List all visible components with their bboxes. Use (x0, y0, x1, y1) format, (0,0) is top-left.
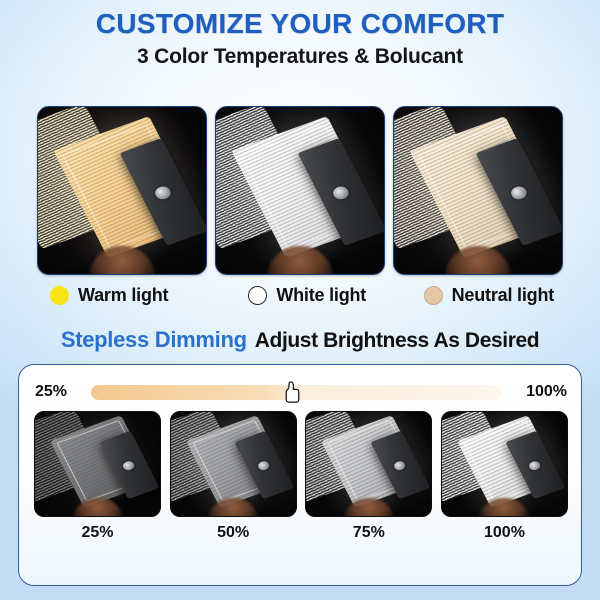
warm-light-panel (37, 106, 207, 275)
header: CUSTOMIZE YOUR COMFORT 3 Color Temperatu… (0, 0, 600, 69)
legend-item-neutral-light: Neutral light (388, 285, 563, 306)
color-temperature-legend: Warm light White light Neutral light (37, 285, 563, 306)
brightness-image-75 (305, 411, 432, 517)
power-button-icon (509, 185, 529, 202)
dimming-heading-primary: Stepless Dimming (61, 327, 247, 352)
dimming-heading: Stepless DimmingAdjust Brightness As Des… (0, 327, 600, 353)
brightness-image-100 (441, 411, 568, 517)
white-light-swatch-icon (248, 286, 267, 305)
slider-min-label: 25% (35, 383, 83, 401)
legend-label: White light (276, 285, 366, 306)
power-button-icon (392, 460, 406, 471)
page-subtitle: 3 Color Temperatures & Bolucant (0, 45, 600, 69)
brightness-image-25 (34, 411, 161, 517)
warm-light-swatch-icon (50, 286, 69, 305)
legend-item-white-light: White light (212, 285, 387, 306)
brightness-level-label: 75% (305, 524, 432, 542)
power-button-icon (528, 460, 542, 471)
power-button-icon (153, 185, 173, 202)
legend-label: Warm light (78, 285, 168, 306)
dimming-card: 25% 100% (18, 364, 582, 586)
book-lamp-image-75 (306, 412, 431, 516)
slider-max-label: 100% (509, 383, 567, 401)
power-button-icon (256, 460, 270, 471)
power-button-icon (121, 460, 135, 471)
book-lamp-image-25 (35, 412, 160, 516)
book-lamp-image-100 (442, 412, 567, 516)
brightness-level-cell: 75% (305, 411, 432, 542)
brightness-slider[interactable] (91, 385, 501, 400)
white-light-panel (215, 106, 385, 275)
thumbs-up-icon[interactable] (282, 380, 302, 404)
brightness-level-cell: 25% (34, 411, 161, 542)
book-lamp-image-white (216, 107, 384, 274)
power-button-icon (331, 185, 351, 202)
brightness-slider-row: 25% 100% (19, 375, 583, 409)
brightness-level-cell: 50% (170, 411, 297, 542)
page-title: CUSTOMIZE YOUR COMFORT (0, 9, 600, 38)
book-lamp-image-50 (171, 412, 296, 516)
book-lamp-image-warm (38, 107, 206, 274)
neutral-light-swatch-icon (424, 286, 443, 305)
brightness-image-50 (170, 411, 297, 517)
legend-label: Neutral light (452, 285, 554, 306)
promo-page: CUSTOMIZE YOUR COMFORT 3 Color Temperatu… (0, 0, 600, 600)
brightness-level-cell: 100% (441, 411, 568, 542)
neutral-light-panel (393, 106, 563, 275)
brightness-level-label: 100% (441, 524, 568, 542)
brightness-level-label: 50% (170, 524, 297, 542)
book-lamp-image-neutral (394, 107, 562, 274)
brightness-level-gallery: 25% 50% (34, 411, 568, 542)
color-temperature-gallery (37, 106, 563, 275)
legend-item-warm-light: Warm light (37, 285, 212, 306)
brightness-level-label: 25% (34, 524, 161, 542)
dimming-heading-secondary: Adjust Brightness As Desired (255, 329, 539, 352)
